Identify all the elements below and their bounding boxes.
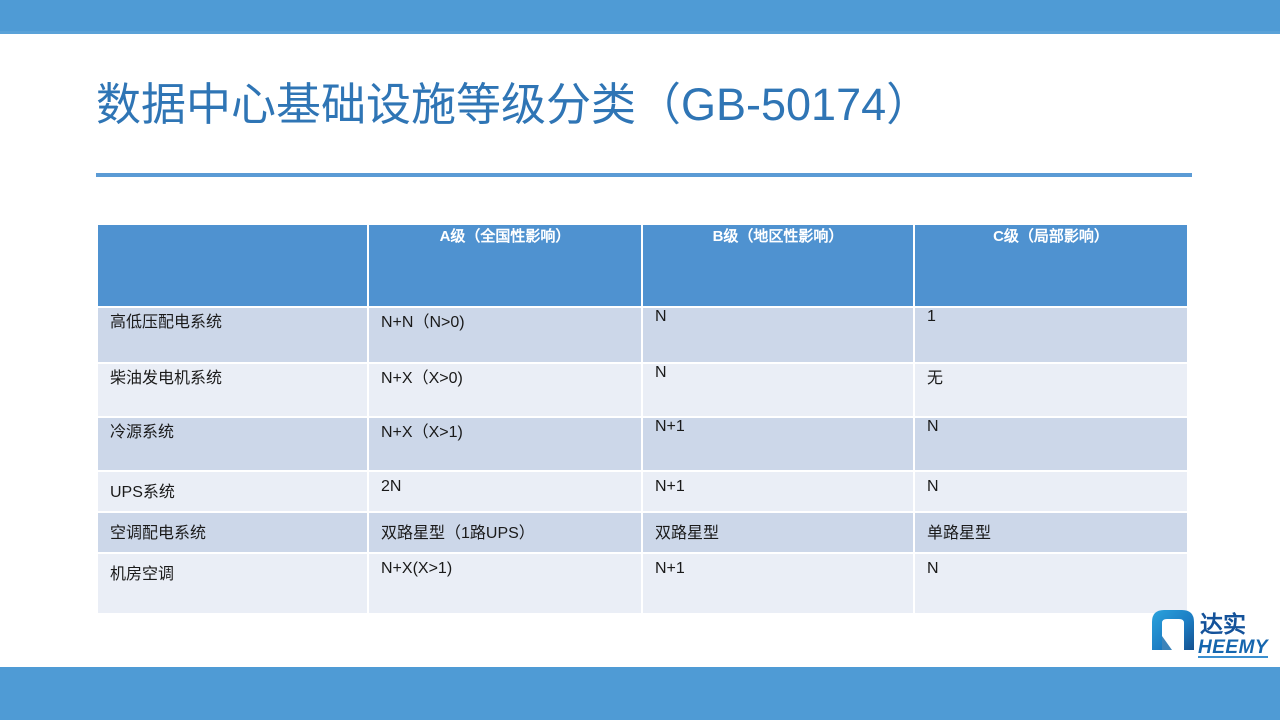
slide-canvas: 数据中心基础设施等级分类（GB-50174） A级（全国性影响） B级（地区性影… <box>0 0 1280 720</box>
cell-grade-c: 无 <box>914 363 1187 417</box>
cell-grade-a: N+N（N>0) <box>368 307 642 363</box>
row-label: 空调配电系统 <box>98 512 368 553</box>
cell-grade-c: N <box>914 553 1187 614</box>
top-banner-bar <box>0 0 1280 31</box>
row-label: 高低压配电系统 <box>98 307 368 363</box>
cell-grade-a: N+X(X>1) <box>368 553 642 614</box>
cell-grade-c: 1 <box>914 307 1187 363</box>
column-header-category <box>98 225 368 307</box>
column-header-grade-b: B级（地区性影响） <box>642 225 914 307</box>
table-row: 空调配电系统 双路星型（1路UPS） 双路星型 单路星型 <box>98 512 1187 553</box>
cell-grade-a: N+X（X>0) <box>368 363 642 417</box>
cell-grade-c: N <box>914 471 1187 512</box>
top-banner-accent <box>0 31 1280 34</box>
cell-grade-b: N+1 <box>642 471 914 512</box>
logo-underline <box>1198 656 1268 658</box>
table-body: 高低压配电系统 N+N（N>0) N 1 柴油发电机系统 N+X（X>0) N … <box>98 307 1187 614</box>
cell-grade-b: N+1 <box>642 553 914 614</box>
table-row: 机房空调 N+X(X>1) N+1 N <box>98 553 1187 614</box>
column-header-grade-c: C级（局部影响） <box>914 225 1187 307</box>
cell-grade-b: N <box>642 363 914 417</box>
logo-arch-mark <box>1152 610 1194 650</box>
cell-grade-a: N+X（X>1) <box>368 417 642 471</box>
row-label: UPS系统 <box>98 471 368 512</box>
company-logo: 达实 HEEMY <box>1148 606 1270 662</box>
logo-brand-cn: 达实 <box>1200 611 1246 638</box>
row-label: 机房空调 <box>98 553 368 614</box>
classification-table-wrapper: A级（全国性影响） B级（地区性影响） C级（局部影响） 高低压配电系统 N+N… <box>98 225 1187 615</box>
cell-grade-b: 双路星型 <box>642 512 914 553</box>
cell-grade-c: N <box>914 417 1187 471</box>
cell-grade-a: 2N <box>368 471 642 512</box>
table-row: 冷源系统 N+X（X>1) N+1 N <box>98 417 1187 471</box>
table-header-row: A级（全国性影响） B级（地区性影响） C级（局部影响） <box>98 225 1187 307</box>
row-label: 柴油发电机系统 <box>98 363 368 417</box>
table-header: A级（全国性影响） B级（地区性影响） C级（局部影响） <box>98 225 1187 307</box>
table-row: UPS系统 2N N+1 N <box>98 471 1187 512</box>
cell-grade-b: N+1 <box>642 417 914 471</box>
bottom-banner-bar <box>0 667 1280 720</box>
table-row: 高低压配电系统 N+N（N>0) N 1 <box>98 307 1187 363</box>
column-header-grade-a: A级（全国性影响） <box>368 225 642 307</box>
row-label: 冷源系统 <box>98 417 368 471</box>
cell-grade-c: 单路星型 <box>914 512 1187 553</box>
cell-grade-b: N <box>642 307 914 363</box>
table-row: 柴油发电机系统 N+X（X>0) N 无 <box>98 363 1187 417</box>
logo-brand-en: HEEMY <box>1198 637 1270 658</box>
cell-grade-a: 双路星型（1路UPS） <box>368 512 642 553</box>
classification-table: A级（全国性影响） B级（地区性影响） C级（局部影响） 高低压配电系统 N+N… <box>98 225 1187 615</box>
title-divider-rule <box>96 173 1192 177</box>
page-title: 数据中心基础设施等级分类（GB-50174） <box>96 74 1196 136</box>
